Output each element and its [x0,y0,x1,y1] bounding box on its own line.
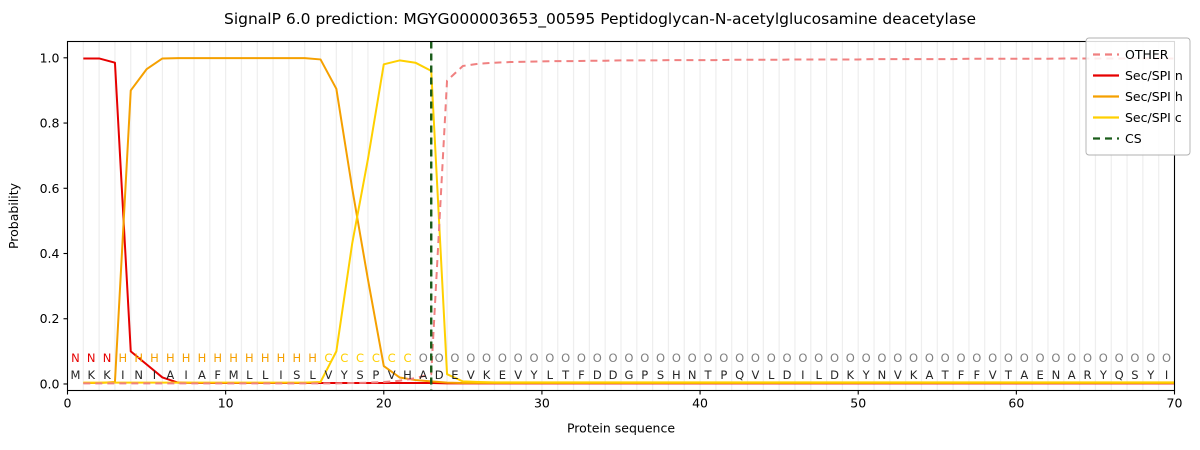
sequence-letter: K [847,368,855,382]
sequence-letter: T [1004,368,1013,382]
sequence-letter: N [688,368,697,382]
sequence-letter: Y [340,368,349,382]
sequence-letter: K [483,368,491,382]
sequence-letter: F [214,368,221,382]
sequence-letter: G [624,368,633,382]
annotation-letter: O [419,351,428,365]
sequence-letter: I [184,368,187,382]
sequence-letter: I [801,368,804,382]
sequence-letter: D [783,368,792,382]
annotation-letter: O [529,351,538,365]
annotation-letter: O [735,351,744,365]
sequence-letter: Y [1146,368,1155,382]
annotation-letter: C [340,351,348,365]
annotation-letter: O [624,351,633,365]
sequence-letter: A [419,368,427,382]
annotation-letter: H [198,351,207,365]
y-axis: 0.00.20.40.60.81.0 [40,50,68,391]
sequence-letter: S [356,368,363,382]
annotation-letter: H [245,351,254,365]
annotation-letter: N [71,351,80,365]
annotation-letter: C [372,351,380,365]
sequence-letter: A [1020,368,1028,382]
sequence-letter: D [830,368,839,382]
sequence-letter: V [324,368,332,382]
sequence-letter: I [279,368,282,382]
annotation-letter: H [134,351,143,365]
annotation-letter: O [846,351,855,365]
sequence-letter: E [451,368,458,382]
sequence-letter: L [547,368,554,382]
annotation-letter: H [229,351,238,365]
annotation-letter: O [751,351,760,365]
annotation-letter: O [482,351,491,365]
sequence-letter: N [134,368,143,382]
annotation-letter: H [119,351,128,365]
annotation-letter: H [261,351,270,365]
sequence-letter: T [703,368,712,382]
annotation-letter: O [719,351,728,365]
sequence-letter: V [751,368,759,382]
annotation-letter: O [1083,351,1092,365]
sequence-letter: L [768,368,775,382]
sequence-letter: I [153,368,156,382]
sequence-letter: F [958,368,965,382]
annotation-letter: O [830,351,839,365]
annotation-letter: H [277,351,286,365]
annotation-letter: C [403,351,411,365]
annotation-letter: O [767,351,776,365]
x-tick-label: 30 [534,396,550,411]
annotation-letter: O [498,351,507,365]
sequence-letter: Y [862,368,871,382]
sequence-letter: A [925,368,933,382]
sequence-letter: F [974,368,981,382]
annotation-letter: O [640,351,649,365]
sequence-letter: M [229,368,239,382]
legend-label: OTHER [1125,47,1169,62]
y-tick-label: 0.4 [40,246,60,261]
sequence-letter: V [989,368,997,382]
annotation-letter: C [388,351,396,365]
annotation-letter: H [292,351,301,365]
legend-label: CS [1125,131,1142,146]
sequence-letter: Q [735,368,744,382]
legend[interactable]: OTHERSec/SPI nSec/SPI hSec/SPI cCS [1086,38,1190,155]
sequence-letter: F [578,368,585,382]
annotation-letter: O [1130,351,1139,365]
prediction-plot: 010203040506070 0.00.20.40.60.81.0 Prote… [0,0,1200,450]
annotation-letter: O [925,351,934,365]
signalp-prediction-figure: SignalP 6.0 prediction: MGYG000003653_00… [0,0,1200,450]
sequence-letter: N [878,368,887,382]
y-tick-label: 0.8 [40,116,60,131]
sequence-letter: V [467,368,475,382]
annotation-letter: O [956,351,965,365]
x-tick-label: 50 [850,396,866,411]
sequence-letter: E [499,368,506,382]
annotation-letter: O [609,351,618,365]
annotation-letter: N [103,351,112,365]
sequence-letter: L [246,368,253,382]
x-tick-label: 10 [218,396,234,411]
annotation-letter: O [1067,351,1076,365]
sequence-letter: M [70,368,80,382]
sequence-letter: T [561,368,570,382]
sequence-letter: K [103,368,111,382]
annotation-letter: O [672,351,681,365]
y-tick-label: 0.2 [40,311,60,326]
annotation-letter: O [877,351,886,365]
sequence-letter: I [121,368,124,382]
annotation-letter: O [1004,351,1013,365]
sequence-letter: K [910,368,918,382]
annotation-letter: O [466,351,475,365]
annotation-letter: H [182,351,191,365]
sequence-letter: L [262,368,269,382]
annotation-letter: O [450,351,459,365]
sequence-letter: K [87,368,95,382]
annotation-letter: O [941,351,950,365]
sequence-letter: A [198,368,206,382]
sequence-letter: A [1068,368,1076,382]
annotation-letter: O [577,351,586,365]
annotation-letter: O [561,351,570,365]
annotation-letter: O [1051,351,1060,365]
annotation-letter: O [909,351,918,365]
annotation-letter: O [435,351,444,365]
sequence-letter: L [309,368,316,382]
annotation-letter: O [783,351,792,365]
sequence-letter: D [435,368,444,382]
annotation-letter: O [593,351,602,365]
annotation-letter: O [972,351,981,365]
annotation-letter: H [308,351,317,365]
annotation-letter: O [656,351,665,365]
annotation-letter: O [988,351,997,365]
annotation-letter: O [1146,351,1155,365]
sequence-letter: S [293,368,300,382]
annotation-letter: O [1115,351,1124,365]
sequence-letter: Y [530,368,539,382]
sequence-letter: Y [1099,368,1108,382]
x-tick-label: 60 [1008,396,1024,411]
x-axis: 010203040506070 [64,391,1183,411]
sequence-letter: R [1084,368,1092,382]
sequence-letter: V [388,368,396,382]
sequence-letter: T [941,368,950,382]
annotation-letter: O [688,351,697,365]
x-tick-label: 70 [1167,396,1183,411]
annotation-letter: C [356,351,364,365]
x-axis-label: Protein sequence [567,421,675,436]
y-tick-label: 0.6 [40,181,60,196]
sequence-letter: L [815,368,822,382]
annotation-letter: O [514,351,523,365]
annotation-letter: O [1036,351,1045,365]
sequence-letter: V [894,368,902,382]
sequence-letter: N [1052,368,1061,382]
legend-label: Sec/SPI c [1125,110,1182,125]
annotation-letter: H [150,351,159,365]
annotation-letter: O [545,351,554,365]
sequence-letter: S [1131,368,1138,382]
sequence-letter: V [514,368,522,382]
annotation-letter: O [814,351,823,365]
annotation-letter: H [213,351,222,365]
sequence-letter: P [372,368,379,382]
x-tick-label: 40 [692,396,708,411]
sequence-letter: D [609,368,618,382]
annotation-letter: C [324,351,332,365]
sequence-letter: D [593,368,602,382]
annotation-letter: O [893,351,902,365]
sequence-letter: I [1165,368,1168,382]
annotation-letter: H [166,351,175,365]
y-tick-label: 0.0 [40,376,60,391]
annotation-letter: O [1020,351,1029,365]
annotation-letter: O [1162,351,1171,365]
sequence-letter: A [166,368,174,382]
annotation-letter: N [87,351,96,365]
x-tick-label: 20 [376,396,392,411]
y-tick-label: 1.0 [40,50,60,65]
legend-label: Sec/SPI n [1125,68,1183,83]
legend-label: Sec/SPI h [1125,89,1183,104]
sequence-letter: E [1036,368,1043,382]
sequence-letter: P [641,368,648,382]
annotation-letter: O [703,351,712,365]
annotation-letter: O [1099,351,1108,365]
x-tick-label: 0 [64,396,72,411]
sequence-letter: H [403,368,412,382]
annotation-letter: O [862,351,871,365]
sequence-letter: Q [1115,368,1124,382]
sequence-letter: H [672,368,681,382]
annotation-letter: O [798,351,807,365]
sequence-letter: S [657,368,664,382]
sequence-letter: P [720,368,727,382]
y-axis-label: Probability [6,182,21,249]
